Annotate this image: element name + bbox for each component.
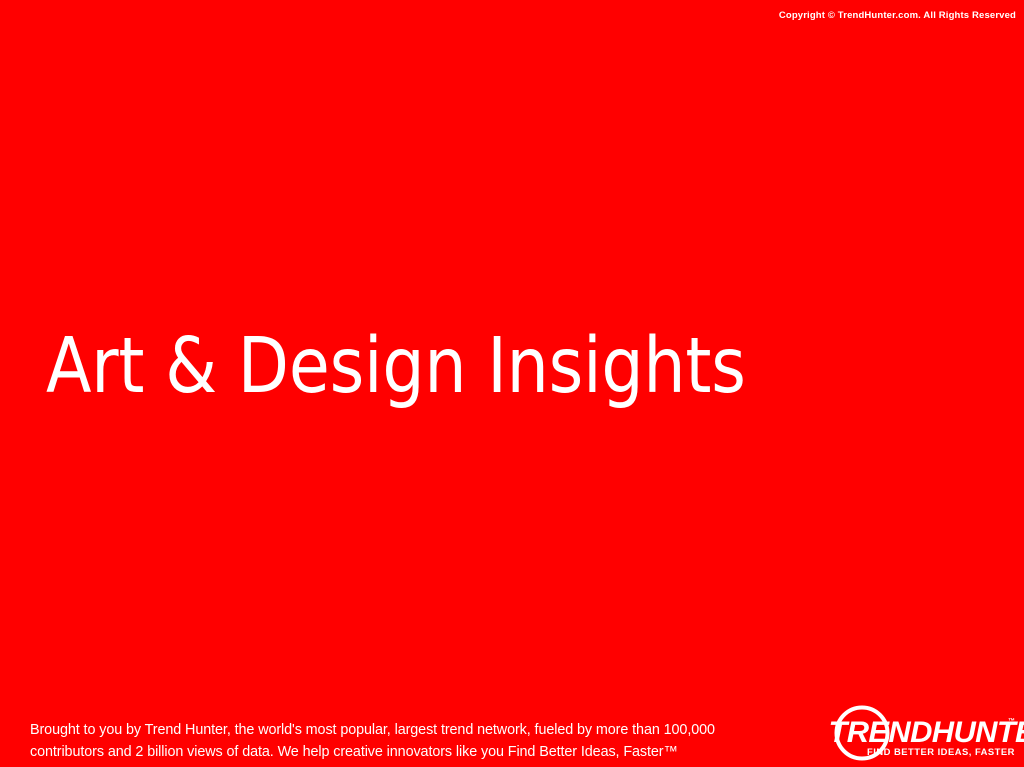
copyright-notice: Copyright © TrendHunter.com. All Rights … <box>779 11 1016 21</box>
slide-canvas: Copyright © TrendHunter.com. All Rights … <box>0 0 1024 767</box>
trendhunter-logo-graphic: TRENDHUNTER ™ FIND BETTER IDEAS, FASTER <box>812 700 1024 764</box>
logo-trademark-icon: ™ <box>1008 718 1015 725</box>
trendhunter-logo[interactable]: TRENDHUNTER ™ FIND BETTER IDEAS, FASTER <box>812 700 1024 764</box>
page-title: Art & Design Insights <box>46 325 910 408</box>
title-block: Art & Design Insights <box>46 325 946 408</box>
footer-blurb-line-1: Brought to you by Trend Hunter, the worl… <box>30 719 739 741</box>
logo-tagline: FIND BETTER IDEAS, FASTER <box>867 746 1015 757</box>
logo-wordmark: TRENDHUNTER <box>828 715 1024 748</box>
footer-blurb: Brought to you by Trend Hunter, the worl… <box>30 719 750 763</box>
footer-blurb-line-2: contributors and 2 billion views of data… <box>30 741 739 763</box>
